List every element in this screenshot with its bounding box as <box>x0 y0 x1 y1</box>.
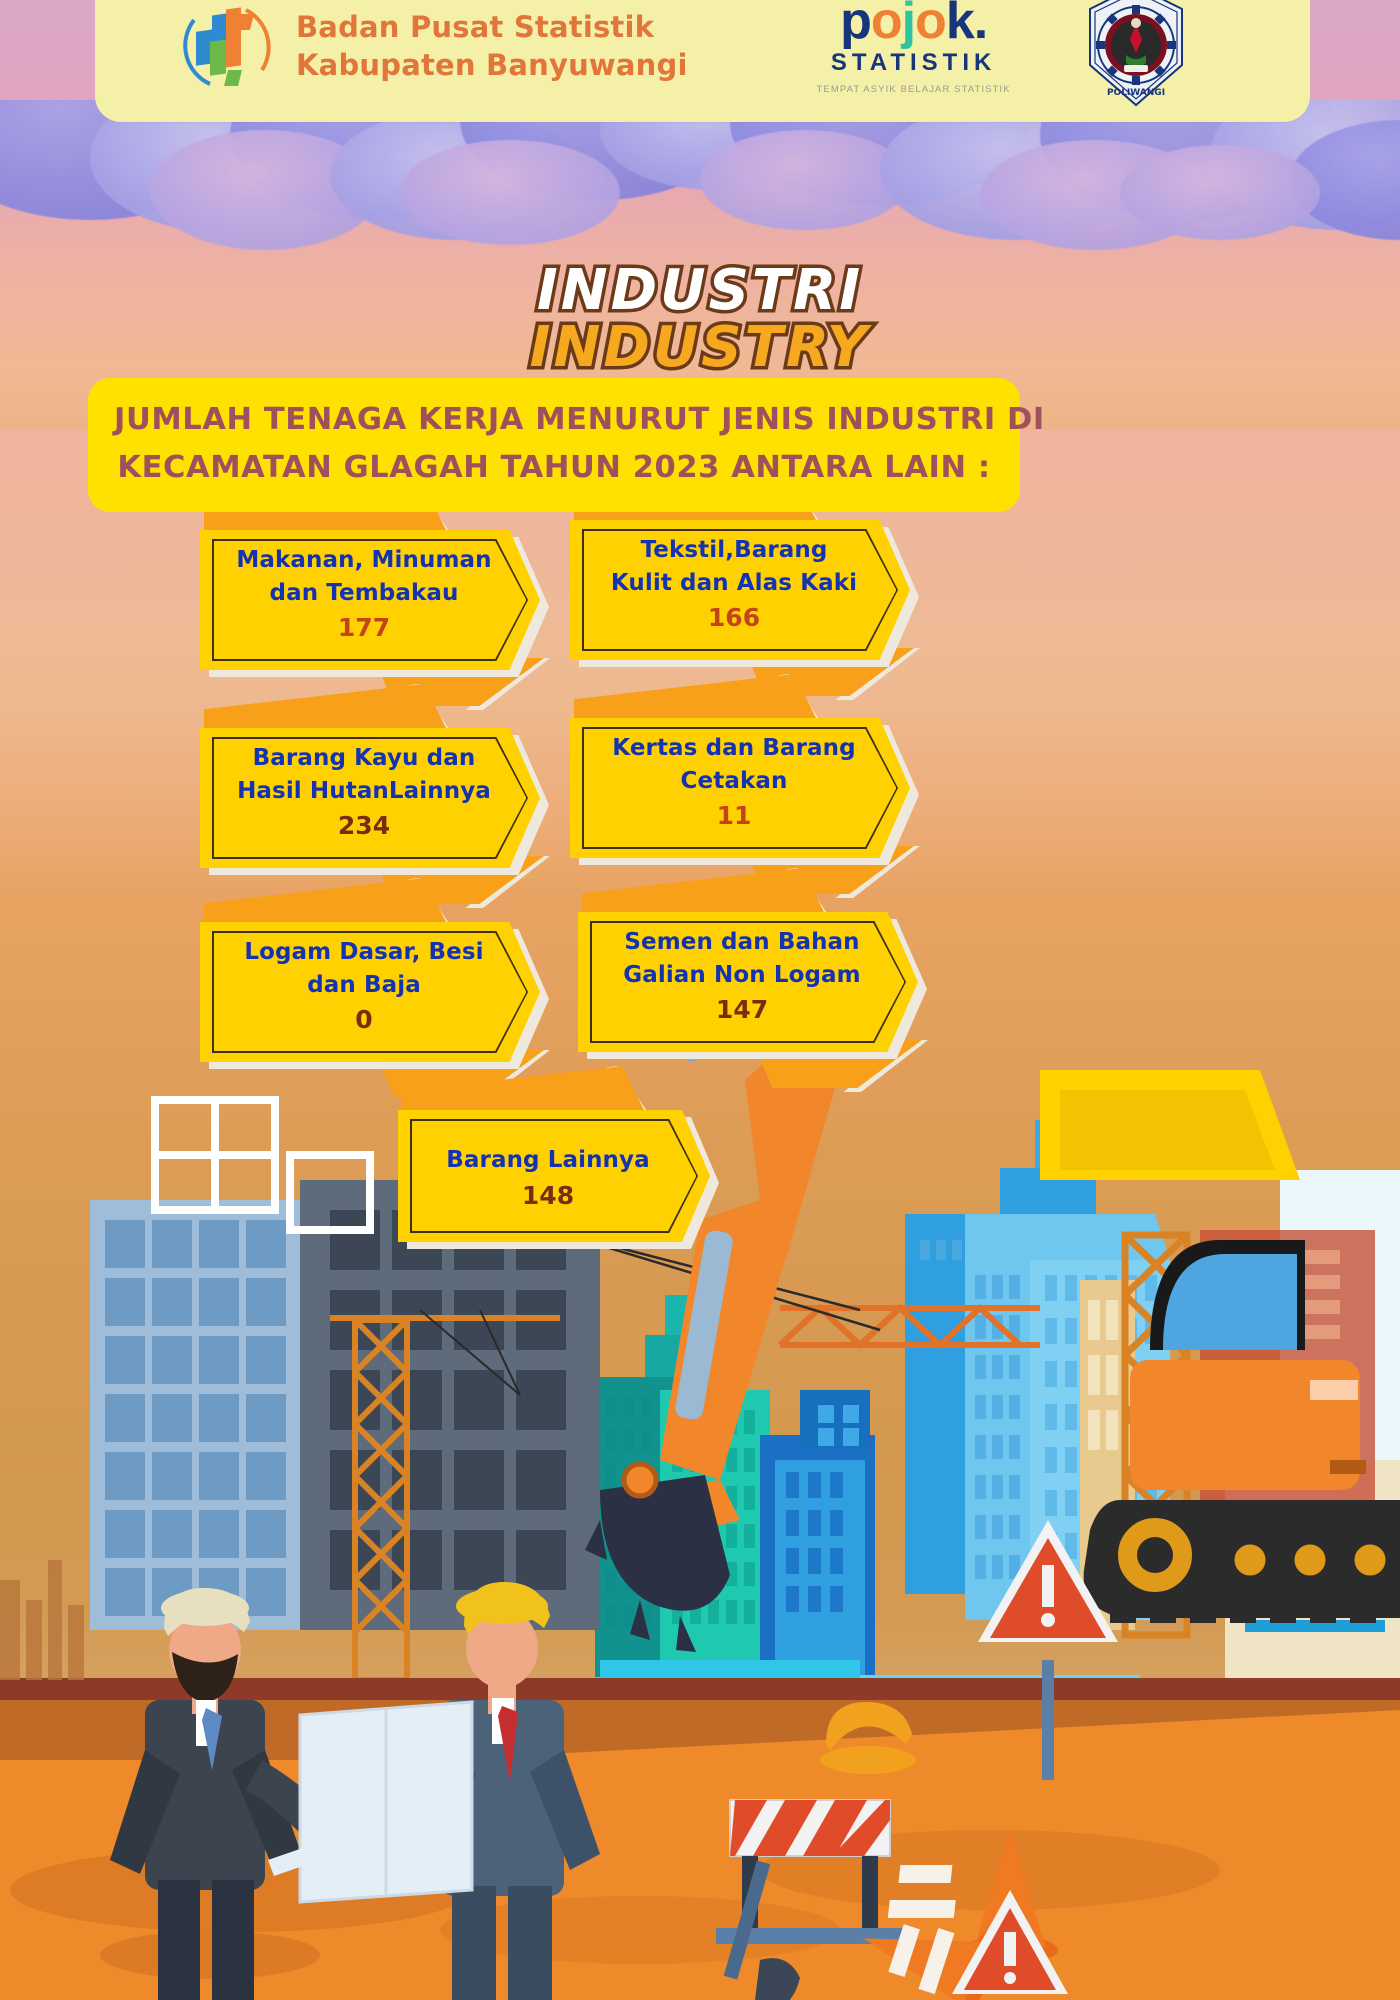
header-bar: Badan Pusat Statistik Kabupaten Banyuwan… <box>95 0 1310 122</box>
badge-label-line2: dan Baja <box>307 969 421 1002</box>
org-title-line2: Kabupaten Banyuwangi <box>296 46 688 84</box>
badge-label-line2: Galian Non Logam <box>623 959 861 992</box>
badge-barang-lainnya[interactable]: Barang Lainnya 148 <box>398 1110 710 1242</box>
badge-value: 11 <box>717 801 752 830</box>
badge-value: 177 <box>338 613 390 642</box>
badge-barang-kayu-dan-hasil-hutan-lainnya[interactable]: Barang Kayu dan Hasil HutanLainnya 234 <box>200 728 540 868</box>
org-title-line1: Badan Pusat Statistik <box>296 8 688 46</box>
badge-label-line1: Kertas dan Barang <box>612 732 855 765</box>
badge-value: 148 <box>522 1181 574 1210</box>
svg-text:POLIWANGI: POLIWANGI <box>1107 88 1165 98</box>
banner-line-2: KECAMATAN GLAGAH TAHUN 2023 ANTARA LAIN … <box>114 444 994 492</box>
page-title-indonesian: INDUSTRI <box>0 258 1400 323</box>
infographic-poster: Badan Pusat Statistik Kabupaten Banyuwan… <box>0 0 1400 2000</box>
pojok-statistik-logo: pojok. STATISTIK TEMPAT ASYIK BELAJAR ST… <box>814 0 1014 95</box>
badge-label-line1: Barang Kayu dan <box>253 742 476 775</box>
org-title: Badan Pusat Statistik Kabupaten Banyuwan… <box>296 8 688 85</box>
badge-tekstil-barang-kulit-dan-alas-kaki[interactable]: Tekstil,Barang Kulit dan Alas Kaki 166 <box>570 520 910 660</box>
badge-label-line1: Tekstil,Barang <box>641 534 828 567</box>
pojok-tagline: TEMPAT ASYIK BELAJAR STATISTIK <box>814 84 1014 95</box>
badge-label-line1: Barang Lainnya <box>446 1144 649 1177</box>
badge-value: 166 <box>708 603 760 632</box>
badge-label-line2: Hasil HutanLainnya <box>237 775 491 808</box>
badge-label-line2: dan Tembakau <box>270 577 459 610</box>
politeknik-negeri-banyuwangi-logo-icon: POLIWANGI <box>1082 0 1190 109</box>
badge-label-line1: Makanan, Minuman <box>236 544 491 577</box>
badge-logam-dasar-besi-dan-baja[interactable]: Logam Dasar, Besi dan Baja 0 <box>200 922 540 1062</box>
main-heading-banner: JUMLAH TENAGA KERJA MENURUT JENIS INDUST… <box>88 378 1020 512</box>
pojok-subtitle: STATISTIK <box>814 49 1014 77</box>
badge-kertas-dan-barang-cetakan[interactable]: Kertas dan Barang Cetakan 11 <box>570 718 910 858</box>
pojok-wordmark: pojok. <box>814 0 1014 47</box>
badge-value: 147 <box>716 995 768 1024</box>
badge-value: 234 <box>338 811 390 840</box>
badge-makanan-minuman-dan-tembakau[interactable]: Makanan, Minuman dan Tembakau 177 <box>200 530 540 670</box>
badge-label-line2: Cetakan <box>681 765 788 798</box>
badge-label-line1: Logam Dasar, Besi <box>244 936 483 969</box>
bps-logo-icon <box>180 0 276 92</box>
page-title-english: INDUSTRY <box>0 315 1400 380</box>
badge-label-line2: Kulit dan Alas Kaki <box>611 567 857 600</box>
badge-value: 0 <box>355 1005 372 1034</box>
banner-line-1: JUMLAH TENAGA KERJA MENURUT JENIS INDUST… <box>114 396 994 444</box>
badge-label-line1: Semen dan Bahan <box>624 926 859 959</box>
badge-semen-dan-bahan-galian-non-logam[interactable]: Semen dan Bahan Galian Non Logam 147 <box>578 912 918 1052</box>
